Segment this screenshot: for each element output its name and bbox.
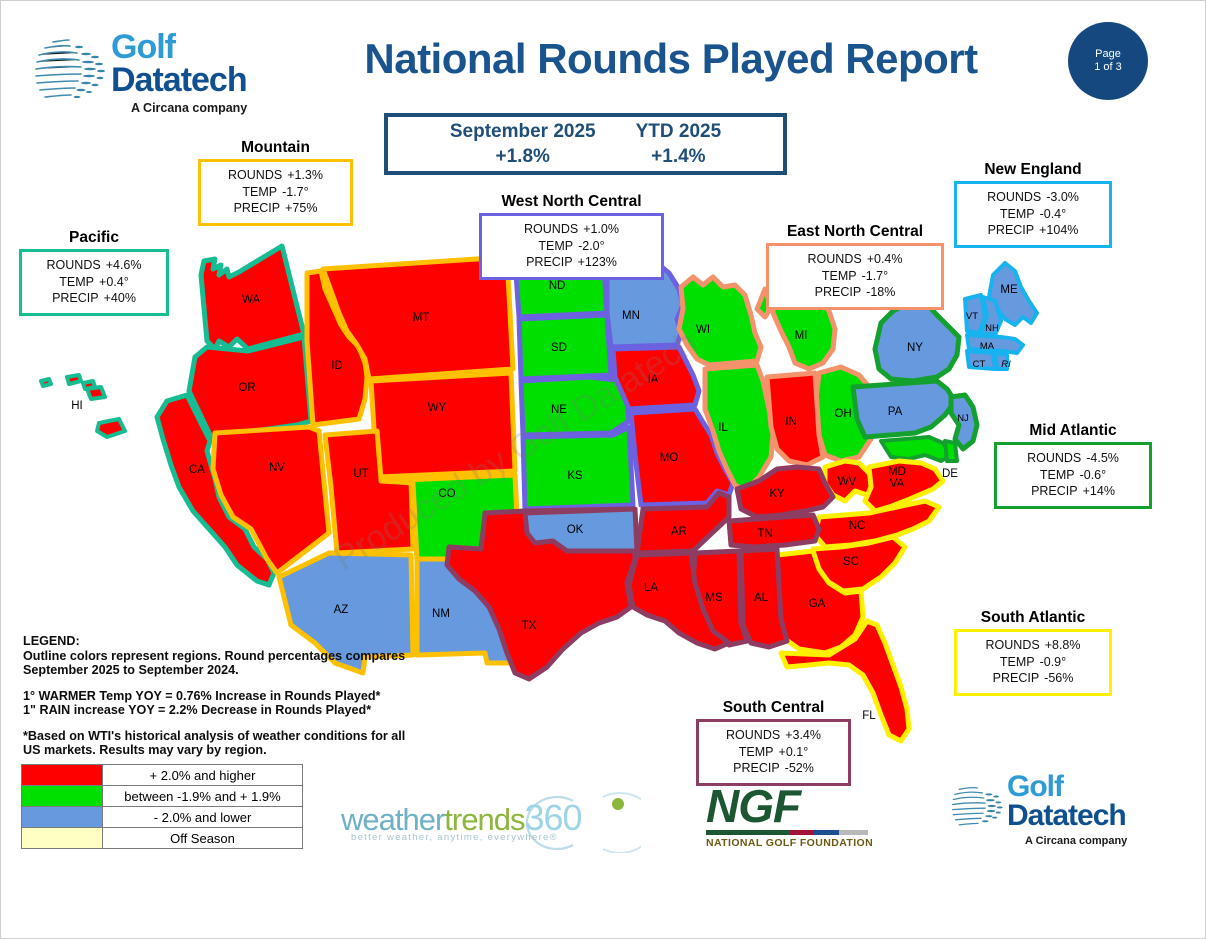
row-value: +75% xyxy=(285,200,317,217)
row-value: +123% xyxy=(578,254,617,271)
state-label-MA: MA xyxy=(980,341,995,352)
legend-heading: LEGEND: xyxy=(23,634,453,649)
region-card-south-atlantic: South Atlantic ROUNDS +8.8% TEMP -0.9° P… xyxy=(954,609,1112,696)
region-row-precip: PRECIP +123% xyxy=(492,254,651,271)
summary-ytd-value: +1.4% xyxy=(636,144,722,169)
state-label-IA: IA xyxy=(648,374,659,386)
row-key: TEMP xyxy=(1000,654,1035,671)
report-page: Golf Datatech A Circana company National… xyxy=(0,0,1206,939)
region-box-west-north-central: ROUNDS +1.0% TEMP -2.0° PRECIP +123% xyxy=(479,213,664,280)
row-value: +0.4° xyxy=(99,274,129,291)
legend-text-block: LEGEND: Outline colors represent regions… xyxy=(23,634,453,758)
logo-tagline: A Circana company xyxy=(1025,835,1127,847)
region-row-rounds: ROUNDS +8.8% xyxy=(967,637,1099,654)
state-label-NY: NY xyxy=(907,342,923,354)
region-row-temp: TEMP -2.0° xyxy=(492,238,651,255)
ngf-subtitle: NATIONAL GOLF FOUNDATION xyxy=(706,837,876,849)
state-KS xyxy=(523,427,633,509)
region-row-precip: PRECIP +14% xyxy=(1007,483,1139,500)
state-label-ND: ND xyxy=(549,280,566,292)
state-label-MT: MT xyxy=(413,312,430,324)
state-label-WI: WI xyxy=(696,324,710,336)
region-card-west-north-central: West North Central ROUNDS +1.0% TEMP -2.… xyxy=(479,193,664,280)
logo-tagline: A Circana company xyxy=(131,101,247,115)
state-label-OR: OR xyxy=(238,382,255,394)
region-row-rounds: ROUNDS +3.4% xyxy=(709,727,838,744)
row-value: +14% xyxy=(1083,483,1115,500)
row-key: PRECIP xyxy=(526,254,573,271)
row-value: +40% xyxy=(104,290,136,307)
state-TN xyxy=(729,515,819,547)
row-key: ROUNDS xyxy=(228,167,282,184)
row-key: PRECIP xyxy=(988,222,1035,239)
state-label-FL: FL xyxy=(862,710,876,722)
row-key: PRECIP xyxy=(733,760,780,777)
state-label-WA: WA xyxy=(242,294,260,306)
region-row-temp: TEMP -0.9° xyxy=(967,654,1099,671)
row-key: ROUNDS xyxy=(726,727,780,744)
summary-month-value: +1.8% xyxy=(450,144,596,169)
row-value: -4.5% xyxy=(1086,450,1119,467)
row-value: -0.6° xyxy=(1080,467,1107,484)
row-key: ROUNDS xyxy=(808,251,862,268)
logo-word-golf: Golf xyxy=(1007,773,1063,801)
state-label-IL: IL xyxy=(718,422,728,434)
legend-line-3: 1° WARMER Temp YOY = 0.76% Increase in R… xyxy=(23,689,453,704)
row-key: TEMP xyxy=(1000,206,1035,223)
state-label-IN: IN xyxy=(785,416,797,428)
state-label-TN: TN xyxy=(757,528,772,540)
legend-label-flat: between -1.9% and + 1.9% xyxy=(103,786,303,807)
state-label-NV: NV xyxy=(269,462,285,474)
row-key: ROUNDS xyxy=(524,221,578,238)
region-row-rounds: ROUNDS +1.0% xyxy=(492,221,651,238)
state-label-LA: LA xyxy=(644,582,658,594)
summary-ytd-label: YTD 2025 xyxy=(636,119,722,144)
ngf-acronym: NGF xyxy=(706,783,876,829)
region-box-new-england: ROUNDS -3.0% TEMP -0.4° PRECIP +104% xyxy=(954,181,1112,248)
row-value: -52% xyxy=(785,760,814,777)
row-key: ROUNDS xyxy=(986,637,1040,654)
state-label-MO: MO xyxy=(660,452,679,464)
legend-line-4: 1" RAIN increase YOY = 2.2% Decrease in … xyxy=(23,703,453,718)
summary-column-month: September 2025 +1.8% xyxy=(450,119,596,169)
state-label-AR: AR xyxy=(671,526,687,538)
region-row-temp: TEMP +0.1° xyxy=(709,744,838,761)
ngf-color-bar xyxy=(706,830,868,835)
row-key: ROUNDS xyxy=(1027,450,1081,467)
row-key: PRECIP xyxy=(234,200,281,217)
region-title-pacific: Pacific xyxy=(19,229,169,247)
region-card-new-england: New England ROUNDS -3.0% TEMP -0.4° PREC… xyxy=(954,161,1112,248)
state-DE xyxy=(945,441,957,461)
golf-datatech-logo-header: Golf Datatech A Circana company xyxy=(31,29,261,124)
state-label-ME: ME xyxy=(1000,284,1018,296)
region-row-temp: TEMP -0.4° xyxy=(967,206,1099,223)
region-box-mountain: ROUNDS +1.3% TEMP -1.7° PRECIP +75% xyxy=(198,159,353,226)
state-PA xyxy=(853,381,955,437)
region-row-rounds: ROUNDS +0.4% xyxy=(779,251,931,268)
state-WI xyxy=(679,277,761,365)
state-label-GA: GA xyxy=(809,598,826,610)
legend-label-offseason: Off Season xyxy=(103,828,303,849)
state-label-VA: VA xyxy=(890,478,905,490)
region-row-temp: TEMP -1.7° xyxy=(779,268,931,285)
row-key: TEMP xyxy=(739,744,774,761)
region-title-east-north-central: East North Central xyxy=(766,223,944,241)
region-card-south-central: South Central ROUNDS +3.4% TEMP +0.1° PR… xyxy=(696,699,851,786)
state-label-TX: TX xyxy=(522,620,537,632)
region-row-rounds: ROUNDS +4.6% xyxy=(32,257,156,274)
region-title-new-england: New England xyxy=(954,161,1112,179)
region-row-temp: TEMP +0.4° xyxy=(32,274,156,291)
row-key: ROUNDS xyxy=(987,189,1041,206)
region-box-south-atlantic: ROUNDS +8.8% TEMP -0.9° PRECIP -56% xyxy=(954,629,1112,696)
golf-datatech-logo-footer: Golf Datatech A Circana company xyxy=(949,773,1149,853)
row-value: +8.8% xyxy=(1045,637,1081,654)
row-value: -3.0% xyxy=(1046,189,1079,206)
logo-word-datatech: Datatech xyxy=(111,63,247,97)
state-WY xyxy=(371,373,515,477)
page-badge-line-1: Page xyxy=(1095,48,1121,61)
row-key: TEMP xyxy=(538,238,573,255)
state-label-SD: SD xyxy=(551,342,567,354)
region-title-south-atlantic: South Atlantic xyxy=(954,609,1112,627)
state-label-NE: NE xyxy=(551,404,567,416)
legend-row-higher: + 2.0% and higher xyxy=(22,765,303,786)
state-label-CT: CT xyxy=(973,359,986,370)
weathertrends360-logo: weathertrends360 better weather, anytime… xyxy=(341,791,641,853)
state-NE xyxy=(521,377,629,435)
row-value: -1.7° xyxy=(862,268,889,285)
region-box-south-central: ROUNDS +3.4% TEMP +0.1° PRECIP -52% xyxy=(696,719,851,786)
row-value: +104% xyxy=(1039,222,1078,239)
region-card-mountain: Mountain ROUNDS +1.3% TEMP -1.7° PRECIP … xyxy=(198,139,353,226)
row-value: +3.4% xyxy=(785,727,821,744)
page-badge-line-2: 1 of 3 xyxy=(1094,61,1122,74)
region-row-rounds: ROUNDS -4.5% xyxy=(1007,450,1139,467)
row-key: TEMP xyxy=(822,268,857,285)
state-label-WV: WV xyxy=(838,476,857,488)
legend-swatch-lower xyxy=(22,807,103,828)
state-label-CO: CO xyxy=(438,488,455,500)
row-key: PRECIP xyxy=(815,284,862,301)
golf-ball-swoosh-icon xyxy=(31,31,111,111)
state-label-OK: OK xyxy=(567,524,584,536)
row-key: TEMP xyxy=(242,184,277,201)
summary-month-label: September 2025 xyxy=(450,119,596,144)
legend-row-offseason: Off Season xyxy=(22,828,303,849)
region-card-mid-atlantic: Mid Atlantic ROUNDS -4.5% TEMP -0.6° PRE… xyxy=(994,422,1152,509)
row-value: +4.6% xyxy=(106,257,142,274)
row-value: +1.3% xyxy=(287,167,323,184)
state-label-MI: MI xyxy=(795,330,808,342)
region-title-mid-atlantic: Mid Atlantic xyxy=(994,422,1152,440)
state-label-HI: HI xyxy=(71,400,83,412)
region-row-precip: PRECIP -18% xyxy=(779,284,931,301)
page-title: National Rounds Played Report xyxy=(301,35,1041,83)
logo-word-golf: Golf xyxy=(111,31,175,63)
row-value: -1.7° xyxy=(282,184,309,201)
golf-ball-swoosh-icon xyxy=(949,777,1007,835)
state-label-SC: SC xyxy=(843,556,859,568)
legend-color-table: + 2.0% and higher between -1.9% and + 1.… xyxy=(21,764,303,849)
state-label-ID: ID xyxy=(331,360,343,372)
state-label-PA: PA xyxy=(888,406,903,418)
region-row-precip: PRECIP +75% xyxy=(211,200,340,217)
region-title-west-north-central: West North Central xyxy=(479,193,664,211)
row-value: -18% xyxy=(866,284,895,301)
state-label-VT: VT xyxy=(966,311,978,322)
region-row-temp: TEMP -0.6° xyxy=(1007,467,1139,484)
region-row-precip: PRECIP -56% xyxy=(967,670,1099,687)
logo-word-datatech: Datatech xyxy=(1007,801,1126,831)
row-key: TEMP xyxy=(59,274,94,291)
region-card-east-north-central: East North Central ROUNDS +0.4% TEMP -1.… xyxy=(766,223,944,310)
legend-label-lower: - 2.0% and lower xyxy=(103,807,303,828)
state-label-NM: NM xyxy=(432,608,450,620)
state-label-WY: WY xyxy=(428,402,447,414)
region-row-precip: PRECIP +104% xyxy=(967,222,1099,239)
region-title-south-central: South Central xyxy=(696,699,851,717)
row-key: TEMP xyxy=(1040,467,1075,484)
legend-swatch-offseason xyxy=(22,828,103,849)
row-value: -0.9° xyxy=(1040,654,1067,671)
row-key: PRECIP xyxy=(993,670,1040,687)
row-value: +0.1° xyxy=(779,744,809,761)
region-box-pacific: ROUNDS +4.6% TEMP +0.4° PRECIP +40% xyxy=(19,249,169,316)
row-value: +0.4% xyxy=(867,251,903,268)
region-title-mountain: Mountain xyxy=(198,139,353,157)
state-label-RI: RI xyxy=(1001,359,1011,370)
state-label-AZ: AZ xyxy=(334,604,349,616)
state-label-KS: KS xyxy=(567,470,583,482)
region-row-rounds: ROUNDS +1.3% xyxy=(211,167,340,184)
state-label-MS: MS xyxy=(705,592,723,604)
row-value: -0.4° xyxy=(1040,206,1067,223)
wt360-tagline: better weather, anytime, everywhere® xyxy=(351,832,558,843)
national-summary-box: September 2025 +1.8% YTD 2025 +1.4% xyxy=(384,113,787,175)
legend-swatch-flat xyxy=(22,786,103,807)
state-label-NC: NC xyxy=(849,520,866,532)
summary-column-ytd: YTD 2025 +1.4% xyxy=(636,119,722,169)
legend-line-2: September 2025 to September 2024. xyxy=(23,663,453,678)
state-HI xyxy=(41,375,125,437)
state-MD xyxy=(881,437,951,461)
legend-row-flat: between -1.9% and + 1.9% xyxy=(22,786,303,807)
legend-line-5: *Based on WTI's historical analysis of w… xyxy=(23,729,453,744)
state-label-MD: MD xyxy=(888,466,906,478)
region-row-rounds: ROUNDS -3.0% xyxy=(967,189,1099,206)
row-key: PRECIP xyxy=(52,290,99,307)
legend-line-6: US markets. Results may vary by region. xyxy=(23,743,453,758)
state-label-UT: UT xyxy=(353,468,368,480)
region-card-pacific: Pacific ROUNDS +4.6% TEMP +0.4° PRECIP +… xyxy=(19,229,169,316)
region-box-mid-atlantic: ROUNDS -4.5% TEMP -0.6° PRECIP +14% xyxy=(994,442,1152,509)
region-row-precip: PRECIP -52% xyxy=(709,760,838,777)
state-label-CA: CA xyxy=(189,464,205,476)
row-value: -56% xyxy=(1044,670,1073,687)
page-number-badge: Page 1 of 3 xyxy=(1068,22,1148,100)
row-value: -2.0° xyxy=(578,238,605,255)
row-key: ROUNDS xyxy=(47,257,101,274)
region-box-east-north-central: ROUNDS +0.4% TEMP -1.7° PRECIP -18% xyxy=(766,243,944,310)
legend-row-lower: - 2.0% and lower xyxy=(22,807,303,828)
row-key: PRECIP xyxy=(1031,483,1078,500)
region-row-temp: TEMP -1.7° xyxy=(211,184,340,201)
ngf-logo: NGF NATIONAL GOLF FOUNDATION xyxy=(706,783,876,845)
state-label-KY: KY xyxy=(769,488,785,500)
state-label-DE: DE xyxy=(942,468,958,480)
state-NY xyxy=(875,301,959,381)
state-label-MN: MN xyxy=(622,310,640,322)
legend-line-1: Outline colors represent regions. Round … xyxy=(23,649,453,664)
state-label-NH: NH xyxy=(985,323,999,334)
state-label-OH: OH xyxy=(834,408,851,420)
legend-swatch-higher xyxy=(22,765,103,786)
state-label-AL: AL xyxy=(754,592,769,604)
region-row-precip: PRECIP +40% xyxy=(32,290,156,307)
legend-label-higher: + 2.0% and higher xyxy=(103,765,303,786)
state-label-NJ: NJ xyxy=(957,413,969,424)
row-value: +1.0% xyxy=(583,221,619,238)
